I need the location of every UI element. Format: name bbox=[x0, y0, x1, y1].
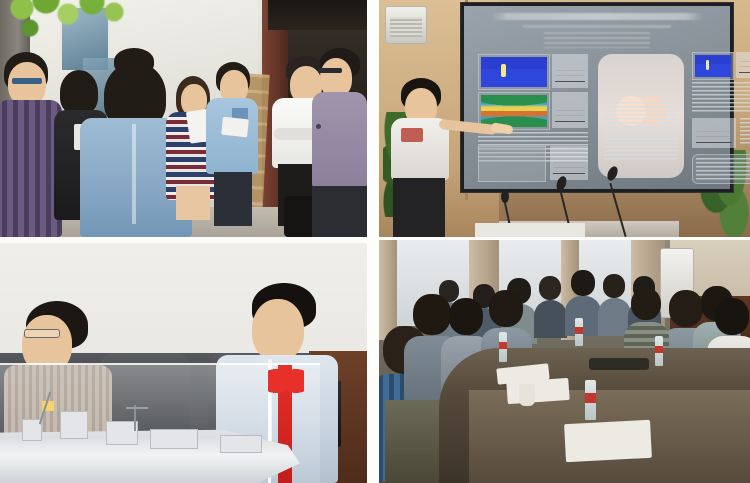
slide-plot-c bbox=[550, 146, 588, 180]
water-bottle-1 bbox=[499, 332, 507, 362]
photo-collage bbox=[0, 0, 750, 483]
slide-text-right bbox=[692, 82, 750, 114]
slide-title-text bbox=[491, 13, 704, 20]
wall-speaker-icon bbox=[385, 6, 427, 44]
water-bottle-2 bbox=[575, 318, 583, 346]
tree-leaves bbox=[10, 0, 140, 54]
slide-center-caption bbox=[604, 102, 678, 162]
slide-text-right-2 bbox=[740, 118, 750, 144]
projection-screen bbox=[461, 3, 733, 192]
ship-radar bbox=[126, 407, 148, 409]
water-bottle-4 bbox=[585, 380, 596, 420]
slide-plot-e bbox=[692, 118, 736, 148]
slide-subtitle-text bbox=[523, 25, 672, 28]
documents-2 bbox=[506, 378, 569, 404]
desk-front bbox=[475, 223, 585, 237]
red-ribbon-bow bbox=[268, 369, 304, 403]
photo-bottom-left bbox=[0, 243, 367, 483]
ship-superstructure-2 bbox=[60, 411, 88, 439]
photo-bottom-right bbox=[379, 240, 750, 483]
slide-plot-a bbox=[552, 54, 588, 88]
slide-panel-heatmap-blue bbox=[478, 54, 550, 90]
slide-panel-device bbox=[478, 146, 546, 182]
slide-plot-d bbox=[736, 52, 750, 78]
slide-plot-b bbox=[552, 92, 588, 128]
slide-references-box bbox=[692, 154, 750, 184]
dark-eave bbox=[268, 0, 367, 30]
water-bottle-3 bbox=[655, 336, 663, 366]
curtain-1 bbox=[379, 240, 397, 340]
paper-cup bbox=[519, 384, 535, 406]
slide-author-text bbox=[544, 32, 650, 48]
photo-top-right bbox=[379, 0, 750, 237]
ship-aft-module bbox=[220, 435, 262, 453]
slide-panel-heatmap-right bbox=[692, 52, 734, 80]
documents-3 bbox=[564, 420, 652, 462]
ship-deckhouse bbox=[150, 429, 198, 449]
photo-top-left bbox=[0, 0, 367, 237]
table-equipment bbox=[589, 358, 649, 370]
